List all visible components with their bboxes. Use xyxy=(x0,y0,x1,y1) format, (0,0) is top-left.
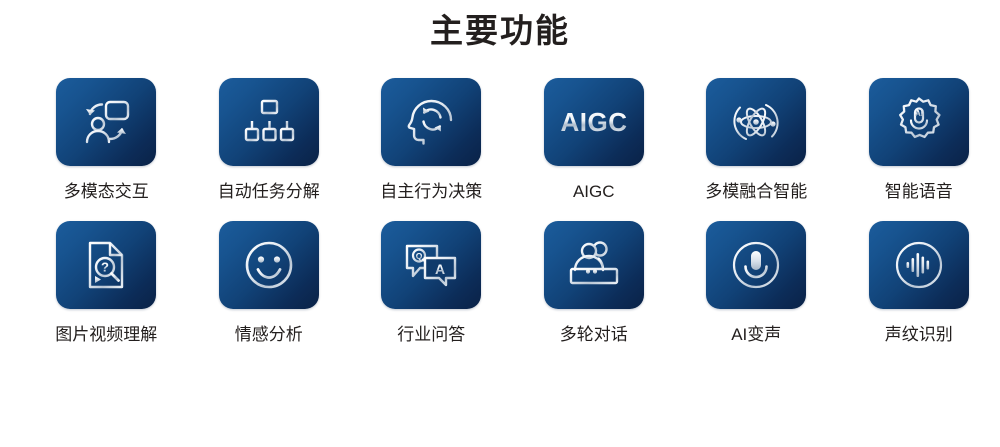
feature-tile[interactable] xyxy=(56,78,156,166)
gear-microphone-ai-label: AI xyxy=(915,109,923,118)
feature-item-image-video-understanding[interactable]: ? 图片视频理解 xyxy=(25,221,188,345)
feature-item-multimodal-interaction[interactable]: 多模态交互 xyxy=(25,78,188,202)
feature-item-intelligent-voice[interactable]: AI 智能语音 xyxy=(838,78,1000,202)
feature-label: 自主行为决策 xyxy=(380,182,482,202)
feature-row-1: 多模态交互 自动任务分解 xyxy=(0,78,1000,202)
feature-label: 智能语音 xyxy=(885,182,953,202)
feature-label: 多模融合智能 xyxy=(705,182,807,202)
feature-tile[interactable]: ? xyxy=(56,221,156,309)
qa-speech-bubbles-icon: Q A xyxy=(403,240,459,290)
atom-fusion-icon xyxy=(728,95,784,149)
feature-label: 多模态交互 xyxy=(64,182,149,202)
document-magnifier-question-icon: ? xyxy=(81,238,131,292)
head-refresh-decision-icon xyxy=(404,95,458,149)
feature-item-fusion-intelligence[interactable]: 多模融合智能 xyxy=(675,78,838,202)
voiceprint-waveform-circle-icon xyxy=(892,238,946,292)
feature-tile[interactable]: AI xyxy=(869,78,969,166)
feature-label: AI变声 xyxy=(731,325,781,345)
qa-bubble-q-label: Q xyxy=(416,251,423,261)
feature-row-2: ? 图片视频理解 情感分析 xyxy=(0,221,1000,345)
aigc-icon-text: AIGC xyxy=(560,107,627,137)
feature-tile[interactable]: AIGC xyxy=(544,78,644,166)
feature-tile[interactable]: Q A xyxy=(381,221,481,309)
feature-overview-page: 主要功能 多模态交互 xyxy=(0,8,1000,447)
feature-tile[interactable] xyxy=(706,78,806,166)
feature-label: 自动任务分解 xyxy=(218,182,320,202)
two-people-dialogue-icon xyxy=(565,240,623,290)
feature-grid: 多模态交互 自动任务分解 xyxy=(0,78,1000,345)
feature-tile[interactable] xyxy=(869,221,969,309)
feature-tile[interactable] xyxy=(219,78,319,166)
gear-microphone-ai-icon: AI xyxy=(892,95,946,149)
feature-item-sentiment-analysis[interactable]: 情感分析 xyxy=(188,221,351,345)
multimodal-interaction-icon xyxy=(79,95,133,149)
feature-item-ai-voice-changer[interactable]: AI变声 xyxy=(675,221,838,345)
feature-tile[interactable] xyxy=(219,221,319,309)
svg-text:?: ? xyxy=(101,259,109,274)
qa-bubble-a-label: A xyxy=(435,261,445,277)
feature-item-task-decomposition[interactable]: 自动任务分解 xyxy=(188,78,351,202)
feature-label: 声纹识别 xyxy=(885,325,953,345)
feature-label: 图片视频理解 xyxy=(55,325,157,345)
feature-item-multi-turn-dialogue[interactable]: 多轮对话 xyxy=(513,221,676,345)
feature-label: 多轮对话 xyxy=(560,325,628,345)
microphone-circle-icon xyxy=(729,238,783,292)
feature-item-aigc[interactable]: AIGC AIGC xyxy=(513,78,676,202)
feature-item-industry-qa[interactable]: Q A 行业问答 xyxy=(350,221,513,345)
feature-label: 行业问答 xyxy=(397,325,465,345)
feature-tile[interactable] xyxy=(706,221,806,309)
feature-item-autonomous-decision[interactable]: 自主行为决策 xyxy=(350,78,513,202)
aigc-text-icon: AIGC xyxy=(556,102,632,142)
feature-item-voiceprint-recognition[interactable]: 声纹识别 xyxy=(838,221,1000,345)
feature-label: AIGC xyxy=(573,182,615,202)
page-title: 主要功能 xyxy=(0,8,1000,54)
feature-label: 情感分析 xyxy=(235,325,303,345)
smiley-face-icon xyxy=(242,238,296,292)
feature-tile[interactable] xyxy=(381,78,481,166)
task-decomposition-hierarchy-icon xyxy=(243,96,295,148)
feature-tile[interactable] xyxy=(544,221,644,309)
